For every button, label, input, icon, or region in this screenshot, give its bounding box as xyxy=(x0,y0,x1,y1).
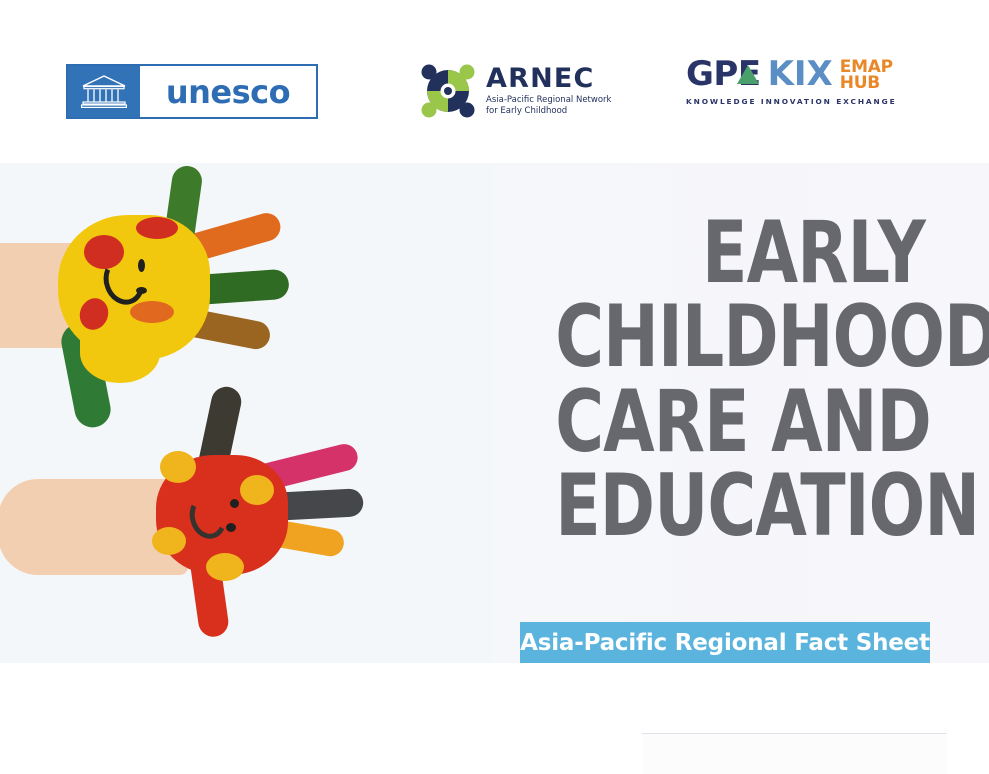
logo-bar: unesco ARNEC Asia-Pacific Regional Netwo… xyxy=(0,0,989,163)
yellow-hand-eye xyxy=(136,287,147,294)
gpe-green-triangle-icon xyxy=(737,65,759,84)
content-area xyxy=(0,663,989,738)
page-title-line-2: CHILDHOOD xyxy=(555,295,925,379)
red-painted-hand xyxy=(108,393,398,663)
arnec-tagline: Asia-Pacific Regional Network for Early … xyxy=(486,95,611,116)
unesco-logo: unesco xyxy=(66,64,318,119)
gpe-kix-row: GPE KIX EMAP HUB xyxy=(686,58,931,91)
red-hand-paint-blob xyxy=(152,527,186,555)
red-hand-paint-blob xyxy=(206,553,244,581)
greek-temple-icon xyxy=(68,66,140,117)
yellow-hand-smiley-face xyxy=(100,251,180,311)
page-title-line-4: EDUCATION xyxy=(555,464,925,548)
red-hand-paint-blob xyxy=(160,451,196,483)
red-hand-eye xyxy=(226,523,236,532)
side-card xyxy=(642,733,947,774)
emap-hub-wordmark: EMAP HUB xyxy=(840,58,893,91)
gpe-subtitle: KNOWLEDGE INNOVATION EXCHANGE xyxy=(686,97,931,106)
unesco-wordmark: unesco xyxy=(140,66,316,117)
subtitle-banner: Asia-Pacific Regional Fact Sheet xyxy=(520,622,930,663)
page-title: EARLY CHILDHOOD CARE AND EDUCATION xyxy=(555,211,925,548)
yellow-hand-paint-blob xyxy=(136,217,178,239)
page-title-line-1: EARLY xyxy=(555,211,925,295)
page-title-line-3: CARE AND xyxy=(555,380,925,464)
red-hand-smile xyxy=(185,491,232,543)
arnec-logo: ARNEC Asia-Pacific Regional Network for … xyxy=(418,60,618,122)
painted-hands-photo xyxy=(0,163,492,663)
arnec-tagline-line1: Asia-Pacific Regional Network xyxy=(486,95,611,106)
kix-wordmark: KIX xyxy=(768,58,833,90)
arnec-name: ARNEC xyxy=(486,65,611,92)
arnec-circle-pinwheel-icon xyxy=(418,62,478,120)
hero-section: EARLY CHILDHOOD CARE AND EDUCATION Asia-… xyxy=(0,163,989,663)
red-hand-eye xyxy=(230,499,239,508)
gpe-kix-emap-logo: GPE KIX EMAP HUB KNOWLEDGE INNOVATION EX… xyxy=(686,58,931,118)
red-hand-smiley-face xyxy=(188,491,258,543)
yellow-hand-eye xyxy=(138,259,145,272)
gpe-wordmark: GPE xyxy=(686,58,761,90)
arnec-text: ARNEC Asia-Pacific Regional Network for … xyxy=(486,65,611,116)
arnec-tagline-line2: for Early Childhood xyxy=(486,106,611,117)
hub-text: HUB xyxy=(840,75,893,91)
hero-text-panel: EARLY CHILDHOOD CARE AND EDUCATION Asia-… xyxy=(492,163,989,663)
